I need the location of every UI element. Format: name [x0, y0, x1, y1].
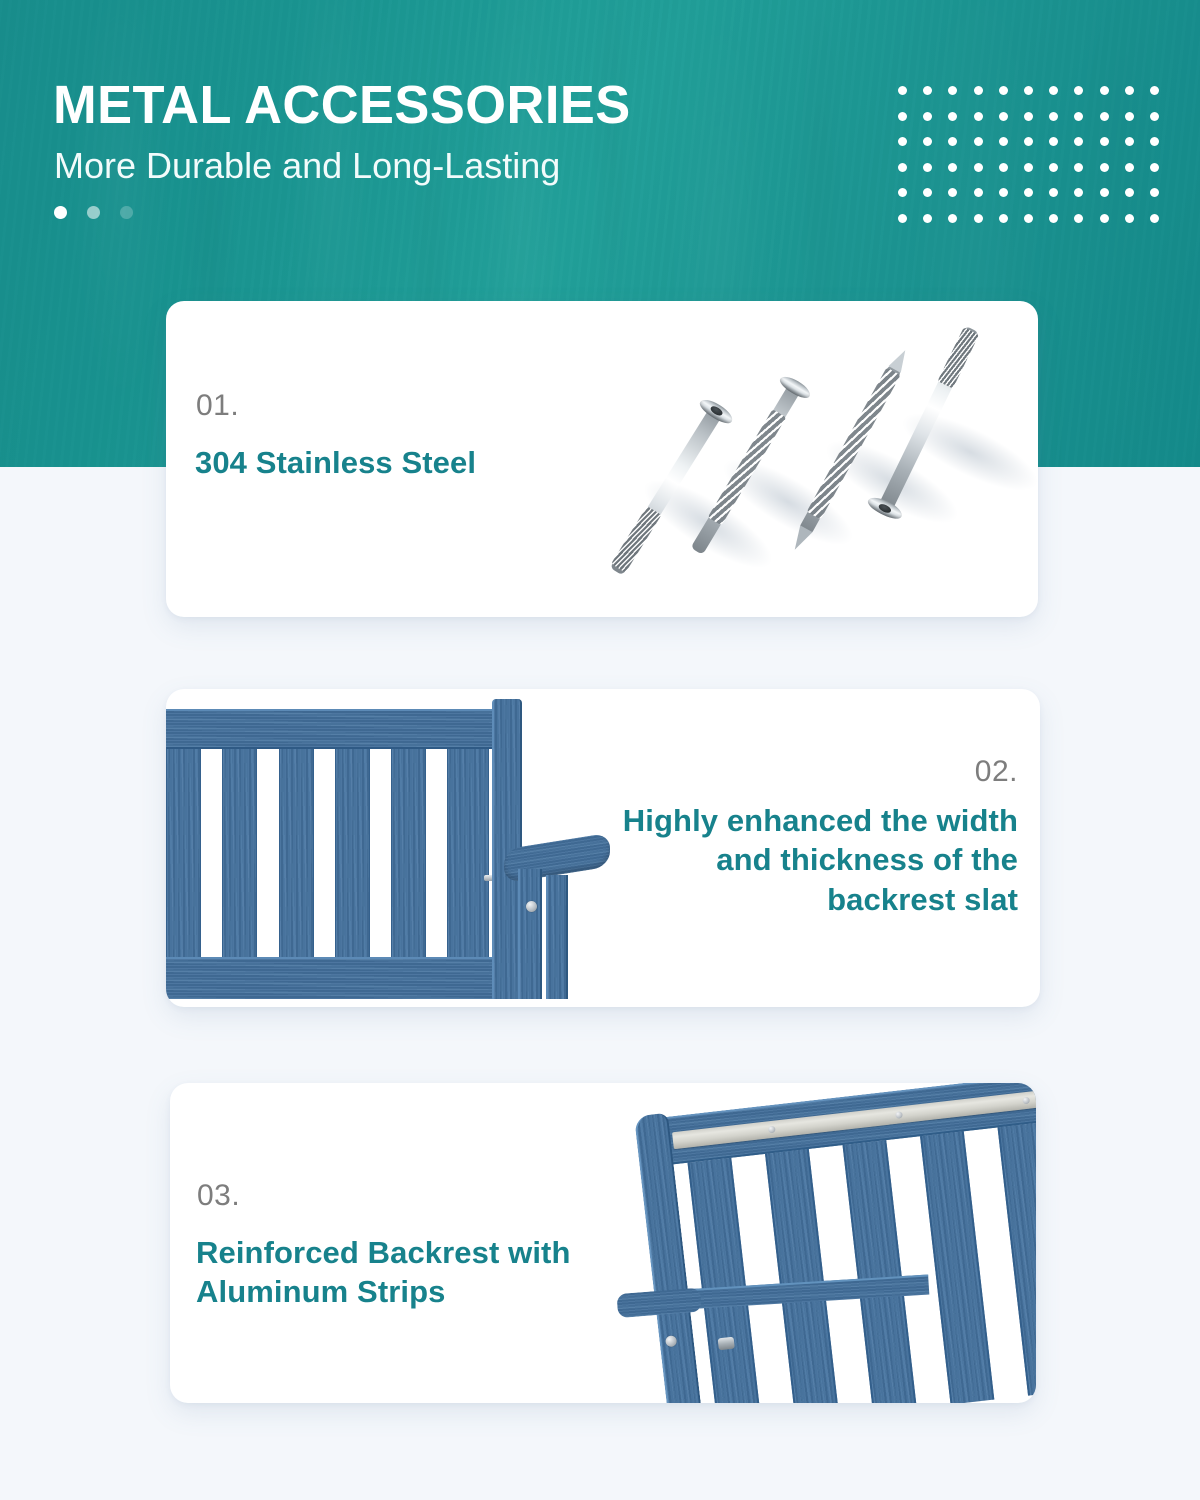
- grid-dot: [1024, 214, 1033, 223]
- backrest-slat: [166, 749, 201, 957]
- grid-dot: [974, 188, 983, 197]
- grid-dot: [974, 137, 983, 146]
- backrest-slat: [765, 1149, 839, 1403]
- grid-dot: [1074, 214, 1083, 223]
- pagination-dot-active[interactable]: [54, 206, 67, 219]
- card-1-headline: 304 Stainless Steel: [195, 443, 476, 482]
- backrest-top-rail: [166, 709, 496, 749]
- backrest-slat: [447, 749, 489, 957]
- grid-dot: [1024, 112, 1033, 121]
- grid-dot: [999, 163, 1008, 172]
- backrest-slat: [920, 1131, 994, 1403]
- page-subtitle: More Durable and Long-Lasting: [54, 148, 560, 184]
- grid-dot: [948, 188, 957, 197]
- grid-dot: [898, 188, 907, 197]
- grid-dot: [974, 86, 983, 95]
- pagination-dot-3[interactable]: [120, 206, 133, 219]
- grid-dot: [923, 86, 932, 95]
- bench-backrest-slats-photo: [166, 689, 616, 1007]
- card-3-number: 03.: [197, 1181, 240, 1211]
- grid-dot: [1074, 86, 1083, 95]
- grid-dot: [1150, 137, 1159, 146]
- grid-dot: [999, 214, 1008, 223]
- decorative-dot-grid: [898, 86, 1175, 240]
- backrest-slat: [843, 1140, 917, 1403]
- grid-dot: [1100, 112, 1109, 121]
- backrest-slat: [335, 749, 370, 957]
- pagination-dot-2[interactable]: [87, 206, 100, 219]
- grid-dot: [1100, 86, 1109, 95]
- grid-dot: [974, 163, 983, 172]
- grid-dot: [923, 214, 932, 223]
- grid-dot: [1125, 112, 1134, 121]
- grid-dot: [1150, 163, 1159, 172]
- grid-dot: [1125, 86, 1134, 95]
- grid-dot: [898, 112, 907, 121]
- page-title: METAL ACCESSORIES: [53, 78, 631, 132]
- grid-dot: [1049, 214, 1058, 223]
- grid-dot: [1049, 163, 1058, 172]
- backrest-slat: [391, 749, 426, 957]
- grid-dot: [1150, 188, 1159, 197]
- grid-dot: [1150, 86, 1159, 95]
- grid-dot: [1125, 163, 1134, 172]
- grid-dot: [974, 112, 983, 121]
- bench-aluminum-strip-photo: [610, 1083, 1036, 1403]
- armrest-support-back: [546, 875, 568, 999]
- grid-dot: [1150, 214, 1159, 223]
- backrest-slat: [688, 1158, 762, 1403]
- card-2-number: 02.: [975, 757, 1018, 787]
- grid-dot: [1100, 163, 1109, 172]
- grid-dot: [948, 214, 957, 223]
- armrest-support-front: [518, 869, 542, 999]
- card-3-headline: Reinforced Backrest with Aluminum Strips: [196, 1233, 596, 1312]
- grid-dot: [1125, 214, 1134, 223]
- grid-dot: [999, 86, 1008, 95]
- pagination-dots[interactable]: [54, 206, 133, 219]
- card-2-headline: Highly enhanced the width and thickness …: [598, 801, 1018, 919]
- grid-dot: [1049, 188, 1058, 197]
- grid-dot: [1049, 112, 1058, 121]
- grid-dot: [999, 137, 1008, 146]
- grid-dot: [1074, 188, 1083, 197]
- grid-dot: [923, 112, 932, 121]
- grid-dot: [1074, 112, 1083, 121]
- grid-dot: [999, 188, 1008, 197]
- armrest-bolt: [526, 901, 537, 912]
- screw-thread: [611, 506, 662, 573]
- grid-dot: [1100, 188, 1109, 197]
- grid-dot: [923, 163, 932, 172]
- grid-dot: [898, 137, 907, 146]
- grid-dot: [923, 137, 932, 146]
- grid-dot: [1074, 163, 1083, 172]
- backrest-slat: [222, 749, 257, 957]
- grid-dot: [1125, 188, 1134, 197]
- grid-dot: [1024, 188, 1033, 197]
- grid-dot: [1074, 137, 1083, 146]
- card-1-number: 01.: [196, 391, 239, 421]
- backrest-slat: [279, 749, 314, 957]
- grid-dot: [898, 163, 907, 172]
- feature-card-2: 02. Highly enhanced the width and thickn…: [166, 689, 1040, 1007]
- grid-dot: [948, 86, 957, 95]
- grid-dot: [1150, 112, 1159, 121]
- grid-dot: [1024, 137, 1033, 146]
- grid-dot: [1024, 86, 1033, 95]
- screw-thread: [938, 327, 980, 388]
- grid-dot: [974, 214, 983, 223]
- backrest-slat: [998, 1122, 1036, 1395]
- grid-dot: [1100, 214, 1109, 223]
- backrest-bottom-rail: [166, 957, 496, 999]
- grid-dot: [948, 137, 957, 146]
- grid-dot: [1049, 86, 1058, 95]
- grid-dot: [923, 188, 932, 197]
- feature-card-3: 03. Reinforced Backrest with Aluminum St…: [170, 1083, 1036, 1403]
- grid-dot: [948, 163, 957, 172]
- grid-dot: [898, 86, 907, 95]
- grid-dot: [999, 112, 1008, 121]
- grid-dot: [1049, 137, 1058, 146]
- grid-dot: [1125, 137, 1134, 146]
- grid-dot: [1100, 137, 1109, 146]
- stainless-steel-screws-photo: [621, 301, 1038, 617]
- feature-card-1: 01. 304 Stainless Steel: [166, 301, 1038, 617]
- grid-dot: [948, 112, 957, 121]
- backrest-bracket: [718, 1337, 735, 1351]
- grid-dot: [1024, 163, 1033, 172]
- grid-dot: [898, 214, 907, 223]
